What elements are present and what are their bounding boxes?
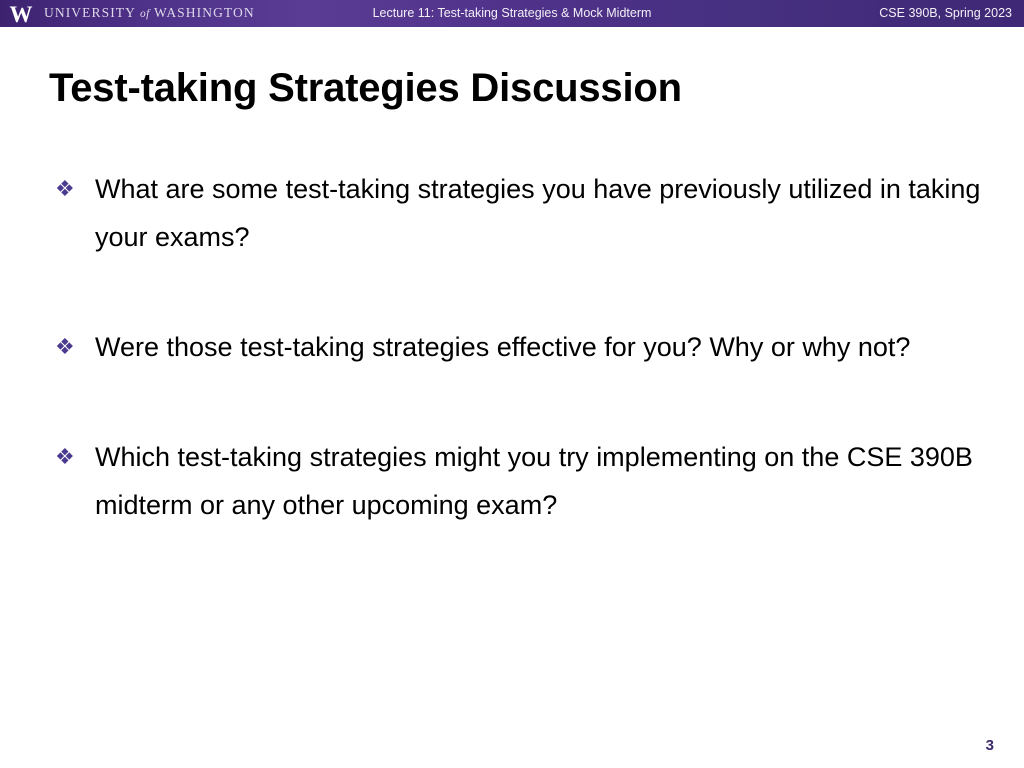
diamond-bullet-icon: ❖	[55, 323, 81, 371]
page-title: Test-taking Strategies Discussion	[49, 64, 929, 112]
slide-header-bar: W UNIVERSITY of WASHINGTON Lecture 11: T…	[0, 0, 1024, 27]
list-item: ❖ Were those test-taking strategies effe…	[55, 323, 1000, 371]
list-item-text: Were those test-taking strategies effect…	[95, 323, 1000, 371]
diamond-bullet-icon: ❖	[55, 433, 81, 481]
list-item: ❖ Which test-taking strategies might you…	[55, 433, 1000, 529]
lecture-title: Lecture 11: Test-taking Strategies & Moc…	[0, 0, 1024, 27]
list-item-text: What are some test-taking strategies you…	[95, 165, 1000, 261]
course-term-label: CSE 390B, Spring 2023	[879, 0, 1012, 27]
diamond-bullet-icon: ❖	[55, 165, 81, 213]
discussion-question-list: ❖ What are some test-taking strategies y…	[55, 165, 985, 529]
list-item-text: Which test-taking strategies might you t…	[95, 433, 1000, 529]
list-item: ❖ What are some test-taking strategies y…	[55, 165, 1000, 261]
slide-number: 3	[986, 737, 994, 754]
